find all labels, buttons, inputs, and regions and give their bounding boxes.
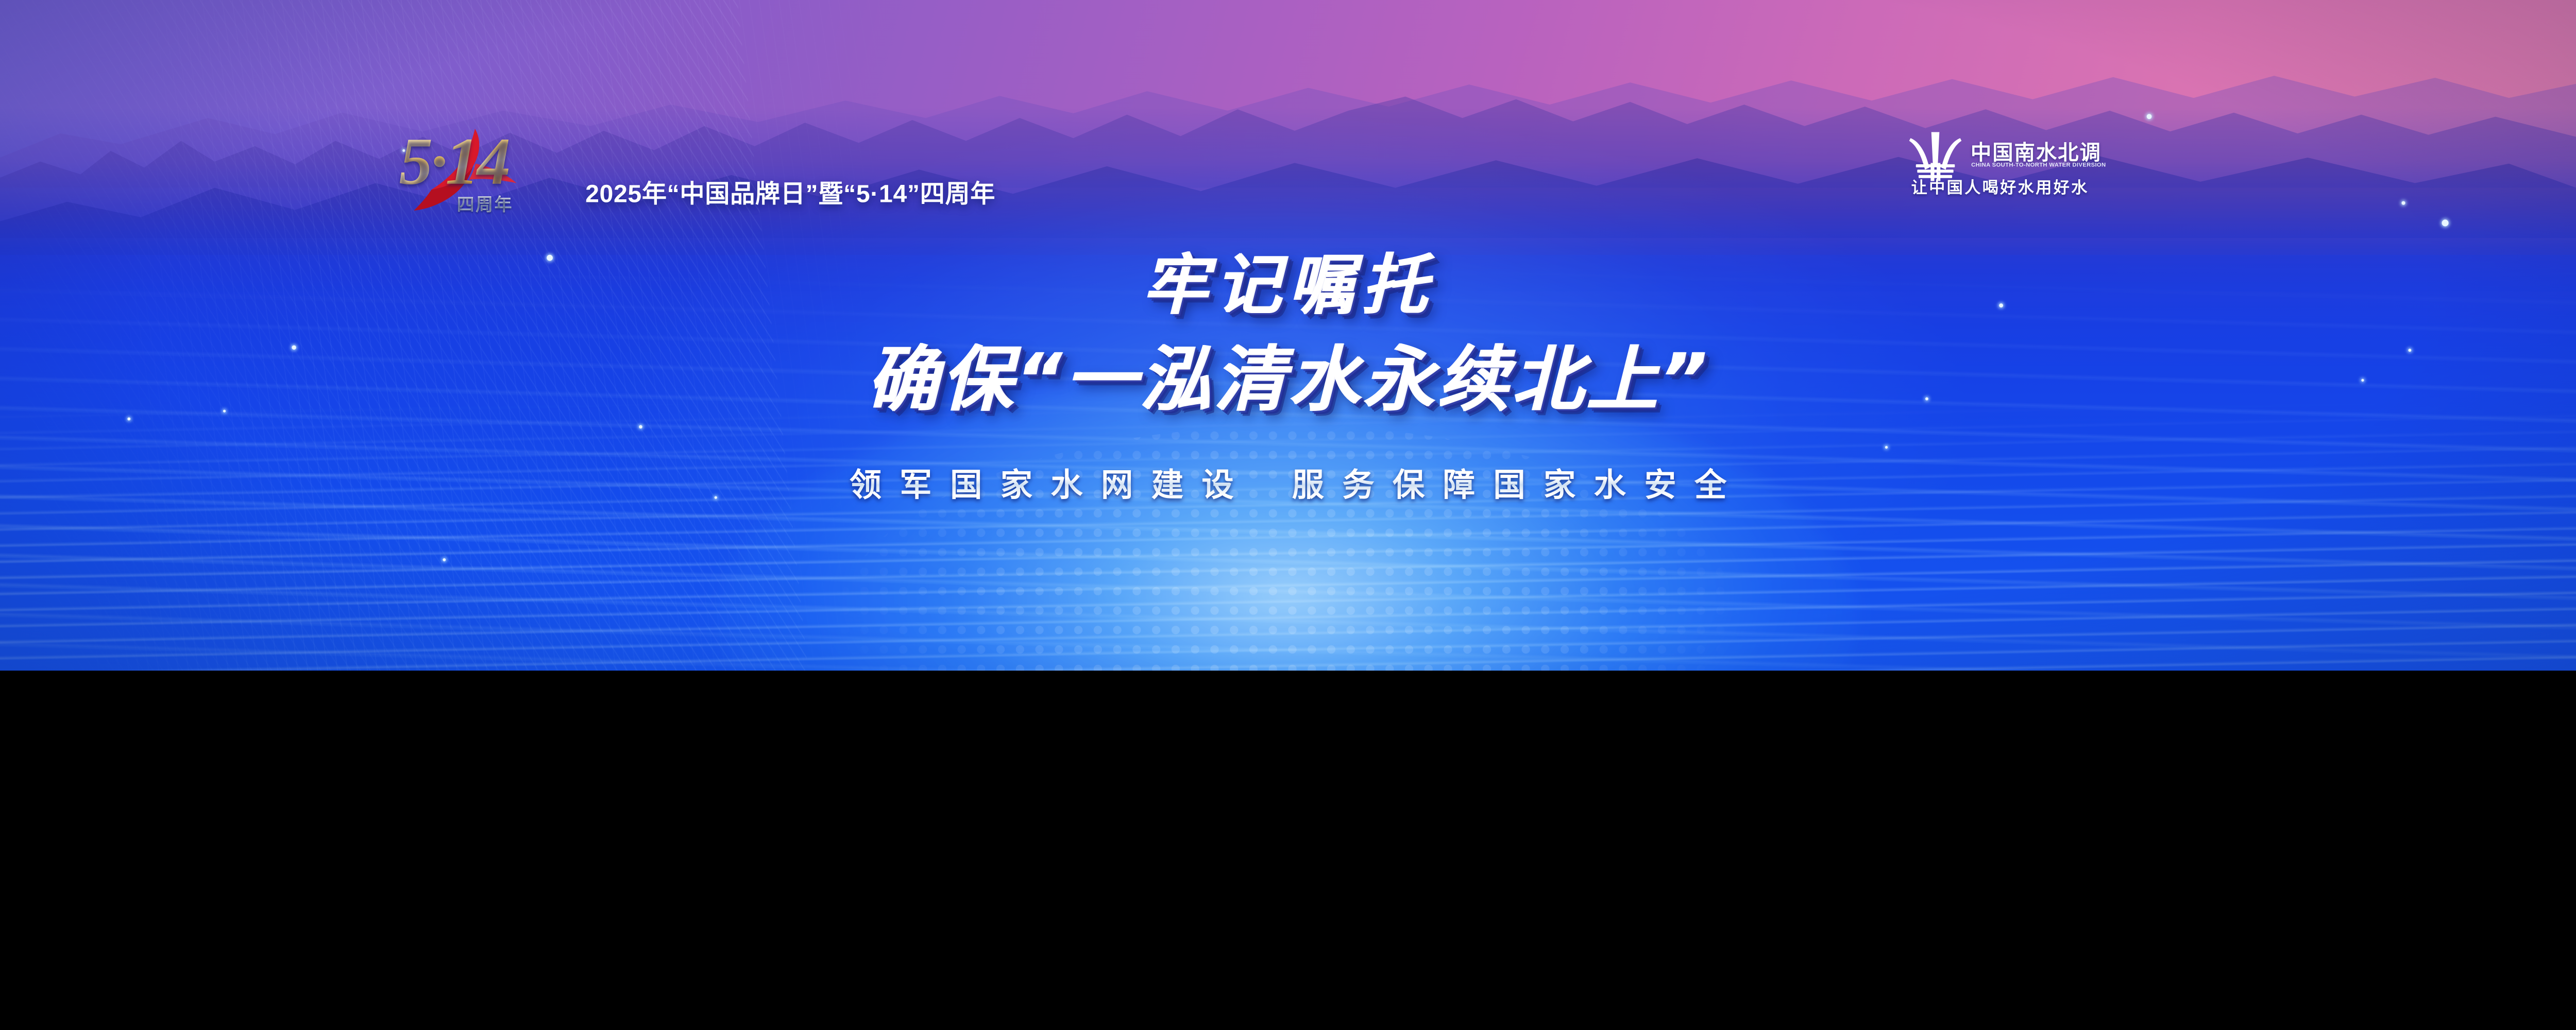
subtitle-char: 军 <box>900 467 932 503</box>
subtitle-char: 国 <box>950 467 982 503</box>
subtitle-char: 服 <box>1292 467 1325 503</box>
subtitle: 领军国家水网建设 服务保障国家水安全 <box>0 459 2576 505</box>
subtitle-char: 网 <box>1101 467 1133 503</box>
headline-line-2: 确保“一泓清水永续北上” <box>0 322 2576 425</box>
subtitle-char: 安 <box>1644 467 1676 503</box>
subtitle-char: 水 <box>1050 467 1082 503</box>
organization-slogan: 让中国人喝好水用好水 <box>1911 175 2089 198</box>
subtitle-char: 保 <box>1393 467 1425 503</box>
subtitle-char: 家 <box>1001 467 1033 503</box>
organization-logo: 中国南水北调 CHINA SOUTH-TO-NORTH WATER DIVERS… <box>1905 131 2140 198</box>
anniversary-label: 四周年 <box>457 191 513 216</box>
subtitle-char: 务 <box>1342 467 1375 503</box>
subtitle-char: 全 <box>1694 467 1727 503</box>
subtitle-char: 水 <box>1594 467 1626 503</box>
banner-backdrop: 5·14 四周年 2025年“中国品牌日”暨“5·14”四周年 中国南水北调 <box>0 0 2576 671</box>
subtitle-char: 障 <box>1443 467 1476 503</box>
subtitle-char: 建 <box>1151 467 1184 503</box>
anniversary-number: 5·14 <box>399 128 509 195</box>
subtitle-char: 领 <box>850 467 882 503</box>
organization-name-en: CHINA SOUTH-TO-NORTH WATER DIVERSION <box>1971 162 2106 168</box>
headline-line-1: 牢记嘱托 <box>0 232 2576 327</box>
subtitle-part-1: 领军国家水网建设 <box>850 467 1234 503</box>
event-title: 2025年“中国品牌日”暨“5·14”四周年 <box>585 174 995 210</box>
subtitle-char: 国 <box>1493 467 1526 503</box>
subtitle-char: 设 <box>1201 467 1234 503</box>
subtitle-part-2: 服务保障国家水安全 <box>1292 467 1727 503</box>
subtitle-char: 家 <box>1544 467 1576 503</box>
anniversary-logo-514: 5·14 四周年 <box>399 121 544 221</box>
